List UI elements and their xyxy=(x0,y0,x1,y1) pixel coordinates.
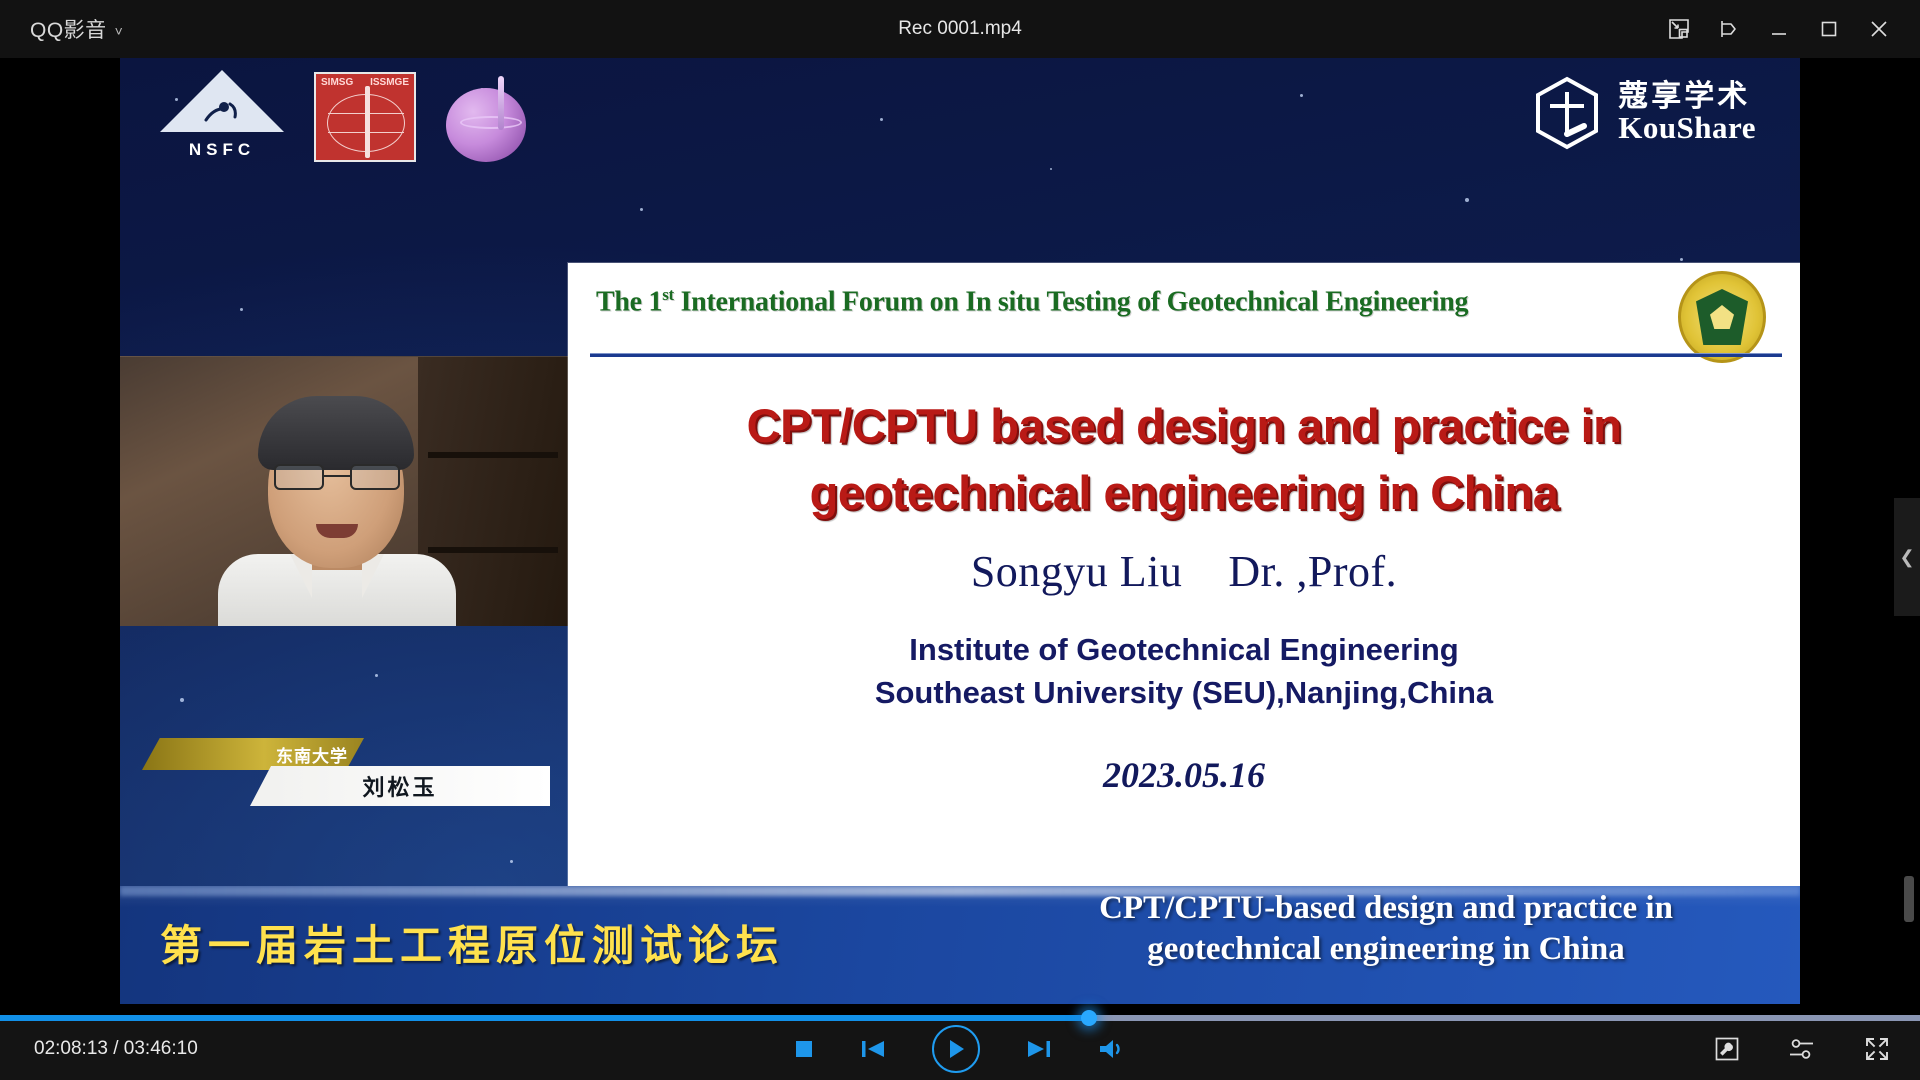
koushare-brand: 蔻享学术 KouShare xyxy=(1530,76,1756,150)
chevron-left-icon: ❮ xyxy=(1899,548,1914,566)
transport-controls xyxy=(0,1018,1920,1080)
slide-body: CPT/CPTU based design and practice in ge… xyxy=(568,363,1800,796)
banner-en-line2: geotechnical engineering in China xyxy=(1000,929,1772,970)
settings-button[interactable] xyxy=(1788,1037,1816,1061)
picture-in-picture-icon[interactable] xyxy=(1656,8,1702,50)
app-menu-button[interactable]: QQ影音 ˅ xyxy=(30,14,123,44)
minimize-icon[interactable] xyxy=(1756,8,1802,50)
slide-title-line2: geotechnical engineering in China xyxy=(608,460,1760,527)
previous-button[interactable] xyxy=(860,1038,886,1060)
video-frame: NSFC SIMSG ISSMGE xyxy=(120,58,1800,1004)
speaker-nameplate: 东南大学 刘松玉 xyxy=(142,738,502,824)
sponsor-logos: NSFC SIMSG ISSMGE xyxy=(160,70,532,162)
side-panel-toggle[interactable]: ❮ xyxy=(1894,498,1920,616)
seu-seal-logo xyxy=(1678,271,1766,363)
slide-affiliation-line1: Institute of Geotechnical Engineering xyxy=(608,629,1760,671)
video-stage[interactable]: NSFC SIMSG ISSMGE xyxy=(0,58,1920,1018)
slide-title-line1: CPT/CPTU based design and practice in xyxy=(608,393,1760,460)
slide-header: The 1st International Forum on In situ T… xyxy=(568,263,1800,363)
window-title: Rec 0001.mp4 xyxy=(0,18,1920,40)
slide-header-superscript: st xyxy=(662,285,674,304)
issmge-label-left: SIMSG xyxy=(321,77,353,88)
play-button[interactable] xyxy=(932,1025,980,1073)
koushare-hexagon-logo xyxy=(1530,76,1604,150)
slide-affiliation-line2: Southeast University (SEU),Nanjing,China xyxy=(608,672,1760,714)
slide-title: CPT/CPTU based design and practice in ge… xyxy=(608,393,1760,526)
slide-author-name: Songyu Liu xyxy=(971,547,1183,596)
speaker-avatar xyxy=(212,392,462,626)
slide-header-rest: International Forum on In situ Testing o… xyxy=(674,286,1468,317)
banner-cn-title: 第一届岩土工程原位测试论坛 xyxy=(160,912,784,973)
next-button[interactable] xyxy=(1026,1038,1052,1060)
presentation-slide: The 1st International Forum on In situ T… xyxy=(568,263,1800,963)
banner-en-title: CPT/CPTU-based design and practice in ge… xyxy=(1000,888,1772,970)
slide-header-title: The 1st International Forum on In situ T… xyxy=(596,285,1774,318)
nameplate-speaker: 刘松玉 xyxy=(250,766,550,806)
maximize-icon[interactable] xyxy=(1806,8,1852,50)
banner-en-line1: CPT/CPTU-based design and practice in xyxy=(1000,888,1772,929)
player-utility-controls xyxy=(1714,1018,1890,1080)
slide-author: Songyu LiuDr. ,Prof. xyxy=(608,546,1760,597)
issmge-label-right: ISSMGE xyxy=(370,77,409,88)
player-window: QQ影音 ˅ Rec 0001.mp4 xyxy=(0,0,1920,1080)
app-name-label: QQ影音 xyxy=(30,14,107,44)
slide-header-divider xyxy=(590,353,1782,357)
player-control-bar: 02:08:13 / 03:46:10 xyxy=(0,1018,1920,1080)
chevron-down-icon[interactable]: ˅ xyxy=(115,23,124,39)
nameplate-affiliation: 东南大学 xyxy=(142,738,364,770)
nameplate-speaker-label: 刘松玉 xyxy=(362,770,437,802)
event-banner: 第一届岩土工程原位测试论坛 CPT/CPTU-based design and … xyxy=(120,886,1800,1004)
purple-sphere-logo xyxy=(446,76,532,162)
tools-button[interactable] xyxy=(1714,1036,1740,1062)
slide-affiliation: Institute of Geotechnical Engineering So… xyxy=(608,629,1760,713)
stop-button[interactable] xyxy=(794,1039,814,1059)
close-icon[interactable] xyxy=(1856,8,1902,50)
slide-author-titles: Dr. ,Prof. xyxy=(1228,547,1397,596)
issmge-logo: SIMSG ISSMGE xyxy=(314,72,416,162)
fullscreen-button[interactable] xyxy=(1864,1036,1890,1062)
playlist-drag-handle[interactable] xyxy=(1904,876,1914,922)
koushare-en-label: KouShare xyxy=(1618,112,1756,144)
nsfc-logo-label: NSFC xyxy=(160,140,284,160)
nameplate-affiliation-label: 东南大学 xyxy=(276,742,348,767)
nsfc-logo: NSFC xyxy=(160,70,284,162)
volume-button[interactable] xyxy=(1098,1038,1126,1060)
koushare-cn-label: 蔻享学术 xyxy=(1618,82,1756,113)
slide-header-prefix: The 1 xyxy=(596,286,662,317)
window-controls xyxy=(1656,0,1902,58)
title-bar: QQ影音 ˅ Rec 0001.mp4 xyxy=(0,0,1920,58)
cast-icon[interactable] xyxy=(1706,8,1752,50)
slide-date: 2023.05.16 xyxy=(608,754,1760,796)
speaker-webcam xyxy=(120,356,568,626)
